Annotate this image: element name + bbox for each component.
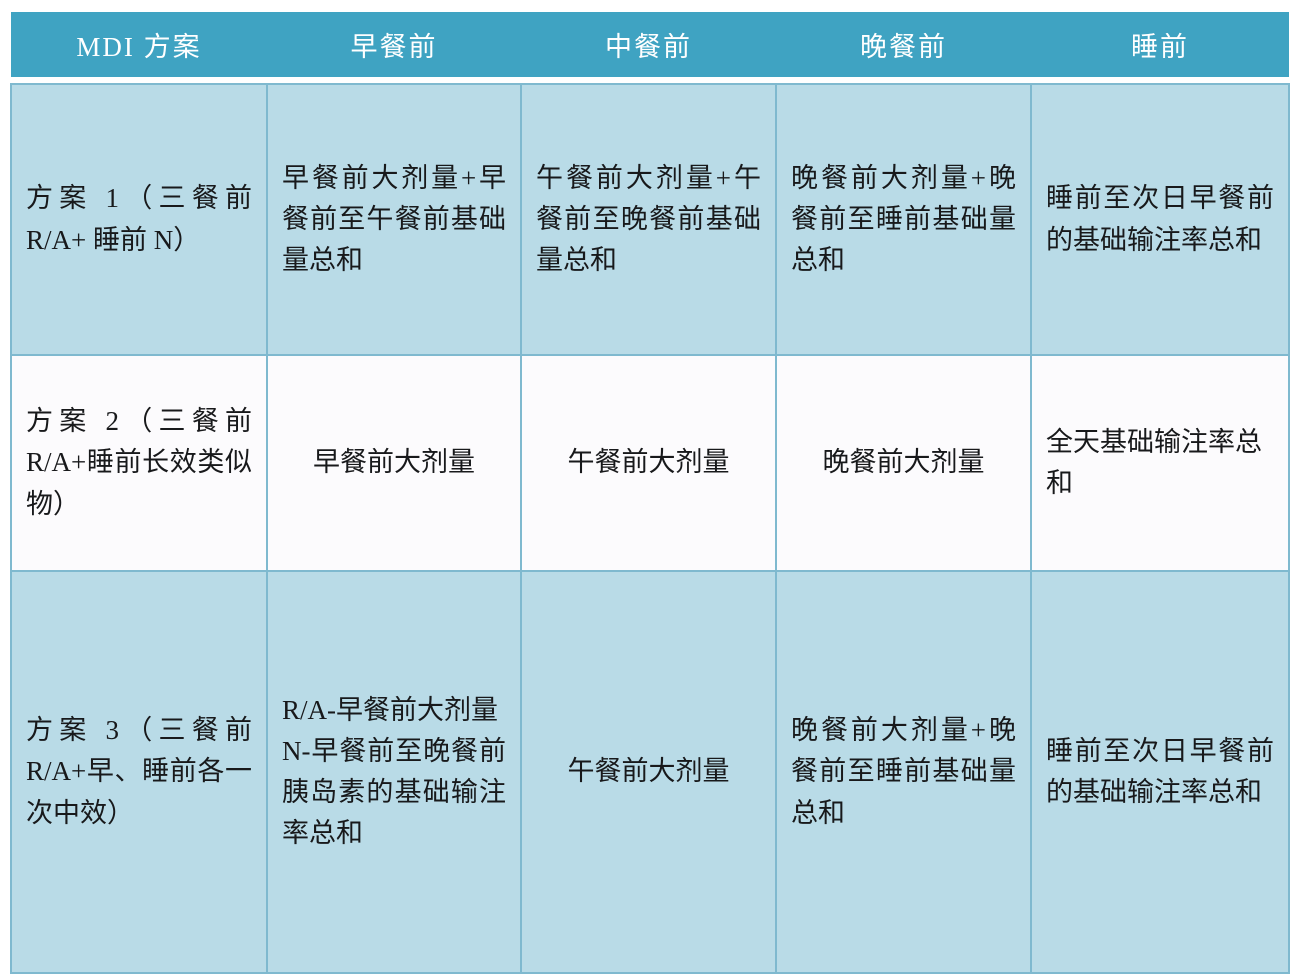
cell-bedtime-1: 睡前至次日早餐前的基础输注率总和 bbox=[1031, 84, 1289, 355]
table-header: MDI 方案 早餐前 中餐前 晚餐前 睡前 bbox=[11, 12, 1289, 77]
table-row: 方案 1（三餐前 R/A+ 睡前 N） 早餐前大剂量+早餐前至午餐前基础量总和 … bbox=[11, 84, 1289, 355]
cell-before-breakfast-3-line-1: R/A-早餐前大剂量 bbox=[282, 690, 506, 731]
column-header-before-dinner: 晚餐前 bbox=[776, 12, 1031, 77]
gap-cell bbox=[267, 77, 521, 84]
column-header-bedtime: 睡前 bbox=[1031, 12, 1289, 77]
column-header-mdi-scheme: MDI 方案 bbox=[11, 12, 267, 77]
table-body: 方案 1（三餐前 R/A+ 睡前 N） 早餐前大剂量+早餐前至午餐前基础量总和 … bbox=[11, 77, 1289, 973]
cell-before-lunch-3: 午餐前大剂量 bbox=[521, 571, 776, 973]
column-header-before-lunch: 中餐前 bbox=[521, 12, 776, 77]
gap-cell bbox=[521, 77, 776, 84]
cell-before-breakfast-3: R/A-早餐前大剂量 N-早餐前至晚餐前胰岛素的基础输注率总和 bbox=[267, 571, 521, 973]
table-row: 方案 3（三餐前 R/A+早、睡前各一次中效） R/A-早餐前大剂量 N-早餐前… bbox=[11, 571, 1289, 973]
mdi-regimen-table: MDI 方案 早餐前 中餐前 晚餐前 睡前 方案 1（三餐前 R/A+ 睡前 N… bbox=[10, 12, 1290, 974]
table-header-row: MDI 方案 早餐前 中餐前 晚餐前 睡前 bbox=[11, 12, 1289, 77]
cell-before-breakfast-3-line-2: N-早餐前至晚餐前胰岛素的基础输注率总和 bbox=[282, 731, 506, 854]
cell-before-breakfast-1: 早餐前大剂量+早餐前至午餐前基础量总和 bbox=[267, 84, 521, 355]
cell-before-lunch-1: 午餐前大剂量+午餐前至晚餐前基础量总和 bbox=[521, 84, 776, 355]
cell-before-dinner-1: 晚餐前大剂量+晚餐前至睡前基础量总和 bbox=[776, 84, 1031, 355]
cell-before-lunch-2: 午餐前大剂量 bbox=[521, 355, 776, 571]
gap-cell bbox=[11, 77, 267, 84]
cell-scheme-2: 方案 2（三餐前 R/A+睡前长效类似物） bbox=[11, 355, 267, 571]
cell-before-dinner-3: 晚餐前大剂量+晚餐前至睡前基础量总和 bbox=[776, 571, 1031, 973]
gap-cell bbox=[1031, 77, 1289, 84]
table-row: 方案 2（三餐前 R/A+睡前长效类似物） 早餐前大剂量 午餐前大剂量 晚餐前大… bbox=[11, 355, 1289, 571]
cell-bedtime-3: 睡前至次日早餐前的基础输注率总和 bbox=[1031, 571, 1289, 973]
cell-scheme-1: 方案 1（三餐前 R/A+ 睡前 N） bbox=[11, 84, 267, 355]
cell-scheme-3: 方案 3（三餐前 R/A+早、睡前各一次中效） bbox=[11, 571, 267, 973]
column-header-before-breakfast: 早餐前 bbox=[267, 12, 521, 77]
gap-cell bbox=[776, 77, 1031, 84]
cell-before-dinner-2: 晚餐前大剂量 bbox=[776, 355, 1031, 571]
cell-bedtime-2: 全天基础输注率总和 bbox=[1031, 355, 1289, 571]
mdi-regimen-table-container: MDI 方案 早餐前 中餐前 晚餐前 睡前 方案 1（三餐前 R/A+ 睡前 N… bbox=[10, 12, 1288, 918]
cell-before-breakfast-2: 早餐前大剂量 bbox=[267, 355, 521, 571]
header-body-gap bbox=[11, 77, 1289, 84]
